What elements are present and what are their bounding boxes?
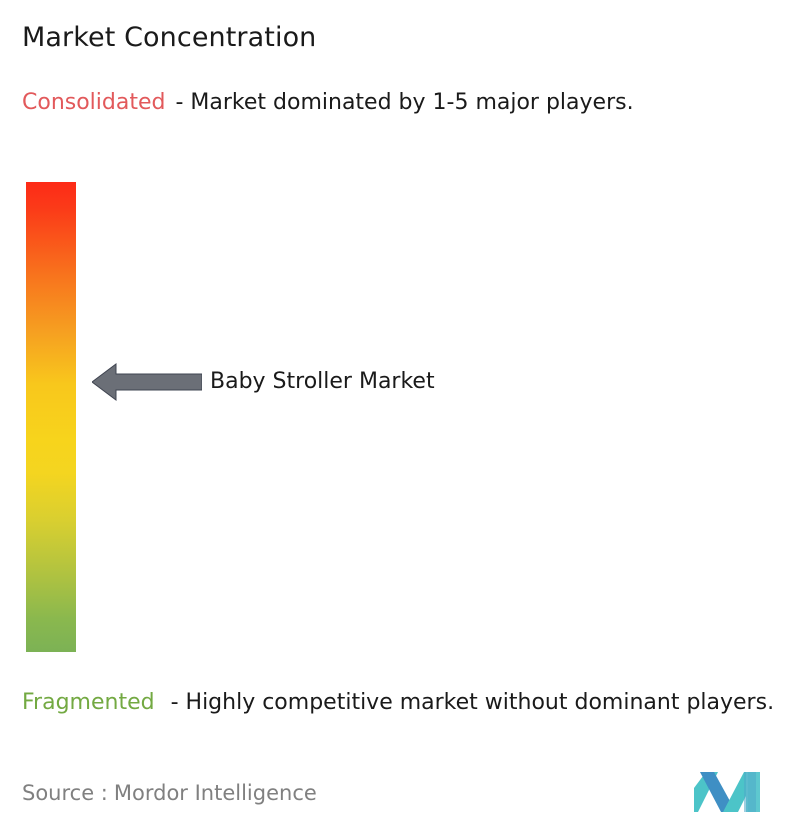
legend-fragmented: Fragmented- Highly competitive market wi…: [22, 686, 792, 719]
market-marker-label: Baby Stroller Market: [210, 366, 435, 398]
market-marker: Baby Stroller Market: [92, 362, 552, 404]
market-concentration-chart: Market Concentration Consolidated- Marke…: [0, 0, 796, 834]
page-title: Market Concentration: [22, 20, 316, 56]
legend-consolidated-description: - Market dominated by 1-5 major players.: [175, 90, 633, 115]
source-label: Source :: [22, 781, 108, 805]
legend-fragmented-keyword: Fragmented: [22, 690, 155, 715]
source-line: Source :Mordor Intelligence: [22, 778, 317, 808]
legend-consolidated-keyword: Consolidated: [22, 90, 165, 115]
concentration-gradient-bar: [26, 182, 76, 652]
left-arrow-icon: [92, 362, 202, 402]
source-value: Mordor Intelligence: [114, 781, 317, 805]
mordor-intelligence-logo-icon: [694, 768, 776, 816]
legend-consolidated: Consolidated- Market dominated by 1-5 ma…: [22, 86, 778, 119]
legend-fragmented-description: - Highly competitive market without domi…: [171, 690, 774, 715]
